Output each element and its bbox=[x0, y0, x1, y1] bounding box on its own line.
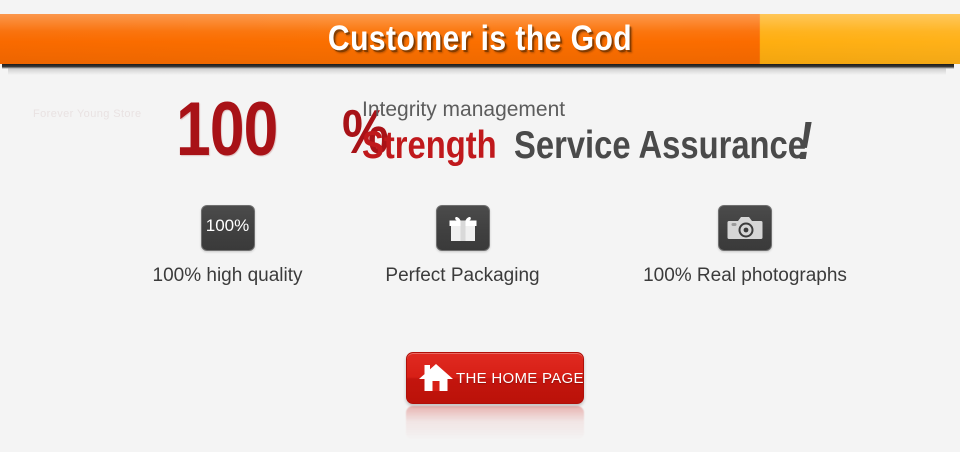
camera-icon bbox=[718, 205, 772, 251]
feature-item-photographs: 100% Real photographs bbox=[590, 205, 900, 287]
home-page-button[interactable]: THE HOME PAGE bbox=[406, 352, 584, 404]
headline-block: 100 % Integrity management Strength Serv… bbox=[176, 92, 876, 182]
banner-title: Customer is the God bbox=[67, 14, 893, 64]
headline-strength-text: Strength bbox=[362, 124, 497, 168]
headline-service-text: Service Assurance bbox=[514, 124, 806, 168]
feature-item-quality: 100% 100% high quality bbox=[120, 205, 335, 287]
feature-label-packaging: Perfect Packaging bbox=[355, 265, 570, 287]
home-button-reflection bbox=[406, 406, 584, 440]
headline-integrity-text: Integrity management bbox=[362, 98, 565, 122]
headline-exclamation: ! bbox=[798, 114, 812, 168]
feature-label-photographs: 100% Real photographs bbox=[590, 265, 900, 287]
feature-label-quality: 100% high quality bbox=[120, 265, 335, 287]
header-banner: Customer is the God bbox=[0, 14, 960, 68]
headline-number: 100 bbox=[176, 94, 278, 166]
house-icon bbox=[418, 362, 454, 394]
home-page-button-label: THE HOME PAGE bbox=[456, 370, 584, 387]
gift-box-icon bbox=[436, 205, 490, 251]
banner-drop-shadow bbox=[2, 64, 954, 69]
feature-row: 100% 100% high quality Perfect Packaging bbox=[120, 205, 900, 310]
percent-badge-icon: 100% bbox=[201, 205, 255, 251]
percent-badge-label: 100% bbox=[202, 216, 254, 236]
store-watermark: Forever Young Store bbox=[33, 108, 142, 120]
feature-item-packaging: Perfect Packaging bbox=[355, 205, 570, 287]
